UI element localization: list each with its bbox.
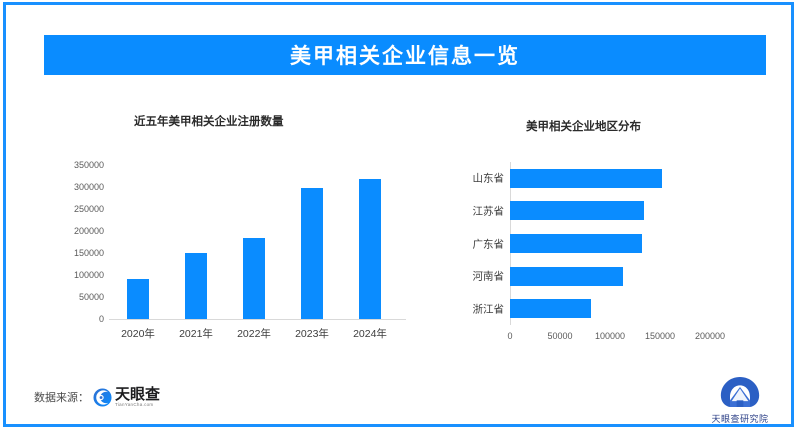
regions-bar [510, 299, 591, 318]
registrations-bar [185, 253, 207, 319]
registrations-x-axis-line [109, 319, 406, 320]
registrations-bar [301, 188, 323, 319]
regions-x-tick: 100000 [595, 331, 625, 341]
regions-plot-area [510, 162, 710, 325]
registrations-x-label: 2021年 [179, 326, 213, 341]
regions-bar-chart: 美甲相关企业地区分布 山东省江苏省广东省河南省浙江省 0500001000001… [426, 100, 800, 360]
institute-name: 天眼查研究院 [711, 412, 768, 425]
registrations-bar-chart: 近五年美甲相关企业注册数量 05000010000015000020000025… [6, 100, 426, 355]
infographic-poster: 美甲相关企业信息一览 近五年美甲相关企业注册数量 050000100000150… [3, 2, 794, 427]
tianyancha-name: 天眼查 [115, 387, 160, 402]
registrations-x-label: 2020年 [121, 326, 155, 341]
registrations-y-tick: 250000 [74, 204, 104, 214]
regions-x-tick: 150000 [645, 331, 675, 341]
regions-bar [510, 234, 642, 253]
registrations-y-tick: 350000 [74, 160, 104, 170]
registrations-x-label: 2024年 [353, 326, 387, 341]
poster-title-banner: 美甲相关企业信息一览 [44, 35, 766, 75]
regions-category-label: 江苏省 [473, 203, 505, 218]
regions-bar [510, 267, 623, 286]
regions-category-label: 广东省 [473, 236, 505, 251]
tianyancha-eye-icon [93, 388, 112, 407]
registrations-x-label: 2022年 [237, 326, 271, 341]
regions-category-label: 山东省 [473, 171, 505, 186]
regions-x-axis-ticks: 050000100000150000200000 [510, 331, 720, 347]
regions-bar [510, 169, 662, 188]
registrations-x-axis-labels: 2020年2021年2022年2023年2024年 [109, 326, 399, 346]
regions-bar [510, 201, 644, 220]
registrations-y-tick: 150000 [74, 248, 104, 258]
registrations-y-tick: 200000 [74, 226, 104, 236]
tianyancha-wordmark: 天眼查 TianYanCha.com [115, 387, 160, 408]
regions-x-tick: 50000 [547, 331, 572, 341]
registrations-bar [359, 179, 381, 319]
page-title: 美甲相关企业信息一览 [290, 40, 520, 70]
registrations-y-tick: 100000 [74, 270, 104, 280]
data-source-row: 数据来源： 天眼查 TianYanC [34, 387, 160, 408]
regions-category-label: 浙江省 [473, 301, 505, 316]
registrations-y-tick: 50000 [79, 292, 104, 302]
institute-logo: 天眼查研究院 [694, 375, 786, 425]
regions-category-label: 河南省 [473, 269, 505, 284]
registrations-y-tick: 300000 [74, 182, 104, 192]
registrations-bar [243, 238, 265, 319]
regions-chart-title: 美甲相关企业地区分布 [526, 118, 641, 134]
tianyancha-logo: 天眼查 TianYanCha.com [93, 387, 160, 408]
regions-x-tick: 200000 [695, 331, 725, 341]
registrations-y-tick: 0 [99, 314, 104, 324]
registrations-chart-title: 近五年美甲相关企业注册数量 [134, 113, 284, 129]
registrations-y-axis-ticks: 0500001000001500002000002500003000003500… [46, 165, 104, 319]
registrations-plot-area [109, 165, 399, 319]
regions-x-tick: 0 [507, 331, 512, 341]
registrations-x-label: 2023年 [295, 326, 329, 341]
regions-category-labels: 山东省江苏省广东省河南省浙江省 [436, 162, 504, 325]
data-source-label: 数据来源： [34, 389, 89, 405]
registrations-bar [127, 279, 149, 319]
mountain-arch-icon [720, 375, 760, 409]
tianyancha-domain: TianYanCha.com [115, 403, 160, 408]
